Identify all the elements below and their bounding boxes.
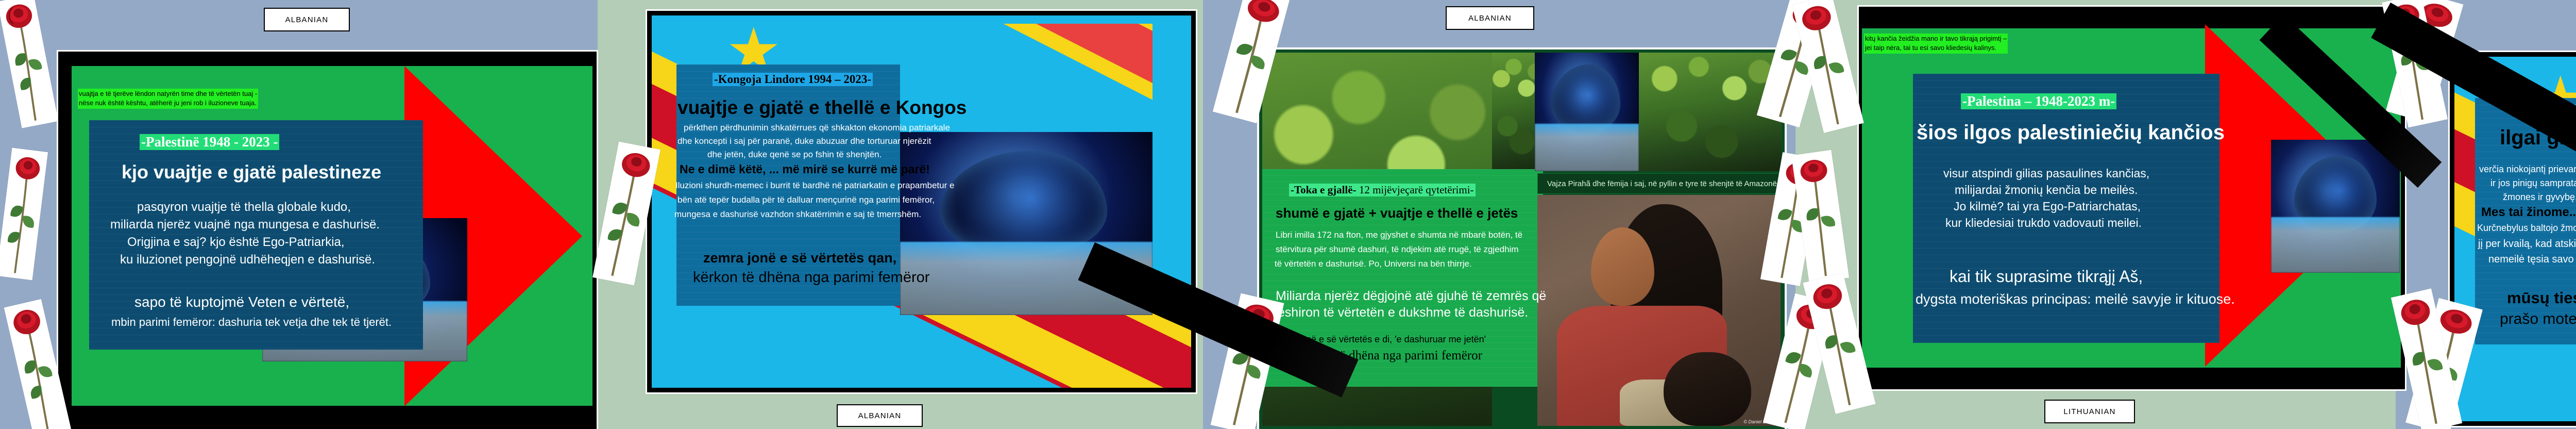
palestine-footer-bold: sapo të kuptojmë Veten e vërtetë, bbox=[134, 294, 349, 310]
palestine-body-line: Jo kilmė? tai yra Ego-Patriarchatas, bbox=[1954, 200, 2141, 213]
congo-body-line: përkthen përdhunimin shkatërrues që shka… bbox=[684, 123, 950, 133]
congo-body2-line: Kurčnebylus baltojo žmogaus kliedesys at… bbox=[2477, 223, 2576, 234]
congo-body2-line: jį per kvailą, kad atskirtų išmintį nuo … bbox=[2478, 238, 2576, 250]
caption-text: Vajza Pirahã dhe fëmija i saj, në pyllin… bbox=[1547, 179, 1781, 188]
palestine-title: -Palestinë 1948 - 2023 - bbox=[140, 134, 279, 150]
earth-body-line: stërvitura për shumë dashuri, të ndjekim… bbox=[1276, 244, 1519, 255]
palestine-heading: kjo vuajtje e gjatë palestineze bbox=[122, 161, 381, 183]
language-tag-lithuanian-1: LITHUANIAN bbox=[2044, 400, 2135, 423]
palestine-footer-line: dygsta moteriškas principas: meilė savyj… bbox=[1916, 291, 2235, 307]
palestine-quote: vuajtja e të tjerëve lëndon natyrën time… bbox=[78, 89, 258, 109]
congo-body-line: ir jos pinigų samprata, prievartaudama i… bbox=[2490, 178, 2576, 189]
palestine-quote-line2: jei taip nėra, tai tu esi savo kliedesių… bbox=[1865, 43, 2007, 53]
palestine-body-line: milijardai žmonių kenčia be meilės. bbox=[1955, 183, 2138, 197]
congo-body2-line: bën atë tepër budalla për të dalluar men… bbox=[677, 195, 935, 205]
palestine-footer-line: mbin parimi femëror: dashuria tek vetja … bbox=[111, 316, 392, 329]
palestine-heading: šios ilgos palestiniečių kančios bbox=[1917, 121, 2225, 144]
palestine-body-line: miliarda njerëz vuajnë nga mungesa e das… bbox=[110, 218, 380, 232]
palestine-slide-albanian: vuajtja e të tjerëve lëndon natyrën time… bbox=[57, 50, 598, 429]
palestine-title: -Palestina – 1948-2023 m- bbox=[1961, 93, 2116, 109]
congo-emphasis: Mes tai žinome... geriau nei bet kada an… bbox=[2481, 205, 2576, 220]
earth-space-image bbox=[1535, 53, 1639, 171]
palestine-quote-line2: nëse nuk është kështu, atëherë ju jeni r… bbox=[79, 98, 257, 108]
palestine-footer-bold: kai tik suprasime tikrąjį Aš, bbox=[1950, 267, 2143, 286]
congo-footer-bold: mūsų tiesos širdis verkia, bbox=[2507, 289, 2576, 307]
congo-body-line: dhe koncepti i saj për paranë, duke abuz… bbox=[677, 136, 931, 146]
palestine-quote: kitų kančia žeidžia mano ir tavo tikrąją… bbox=[1864, 34, 2008, 54]
congo-body-line: verčia niokojantį prievartavimą, kurį su… bbox=[2479, 164, 2576, 175]
congo-heading: vuajtje e gjatë e thellë e Kongos bbox=[677, 97, 967, 119]
language-tag-albanian-2: ALBANIAN bbox=[837, 404, 923, 427]
earth-space-image bbox=[2271, 140, 2400, 273]
palestine-body-line: pasqyron vuajtje të thella globale kudo, bbox=[137, 200, 351, 214]
earth-body-line: Libri imilla 172 na fton, me gjyshet e s… bbox=[1276, 230, 1522, 240]
palestine-body-line: kur kliedesiai trukdo vadovauti meilei. bbox=[1945, 216, 2142, 230]
congo-body2-line: Iluzioni shurdh-memec i burrit të bardhë… bbox=[675, 180, 954, 191]
earth-body-line: të vërtetën e dashurisë. Po, Universi na… bbox=[1275, 259, 1472, 269]
slide-strip: ALBANIAN bbox=[0, 0, 2576, 429]
earth-title-rest: 12 mijëvjeçarë qytetërimi- bbox=[1357, 184, 1474, 196]
congo-footer-bold: zemra jonë e së vërtetës qan, bbox=[703, 250, 896, 266]
congo-body-line: žmones ir gyvybę, nes išpučia šventumą. bbox=[2503, 192, 2576, 203]
language-tag-albanian-1: ALBANIAN bbox=[264, 8, 350, 31]
photo-caption: Vajza Pirahã dhe fëmija i saj, në pyllin… bbox=[1537, 173, 1785, 194]
congo-body-line: dhe jetën, duke qenë se po fshin të shen… bbox=[707, 150, 882, 160]
earth-body-big-line: Miliarda njerëz dëgjojnë atë gjuhë të ze… bbox=[1276, 289, 1546, 304]
congo-emphasis: Ne e dimë këtë, ... më mirë se kurrë më … bbox=[680, 162, 930, 176]
congo-body2-line: nemeilė tęsia savo siaubingą naikinimą. bbox=[2488, 254, 2576, 266]
palestine-body-line: Origjina e saj? kjo është Ego-Patriarkia… bbox=[127, 235, 345, 250]
congo-title: -Kongoja Lindore 1994 – 2023- bbox=[713, 73, 873, 86]
palestine-body-line: visur atspindi gilias pasaulines kančias… bbox=[1943, 167, 2149, 180]
earth-heading: shumë e gjatë + vuajtje e thellë e jetës bbox=[1276, 205, 1518, 221]
language-tag-albanian-3: ALBANIAN bbox=[1446, 6, 1534, 30]
pirahã-mother-photo: © Daniel Everett bbox=[1537, 195, 1781, 426]
congo-footer-line: prašo moteriškojo principo bbox=[2500, 310, 2576, 328]
congo-slide-albanian: ★ -Kongoja Lindore 1994 – 2023- vuajtje … bbox=[646, 9, 1197, 394]
palestine-body-line: ku iluzionet pengojnë udhëheqjen e dashu… bbox=[120, 253, 375, 267]
palestine-quote-line1: vuajtja e të tjerëve lëndon natyrën time… bbox=[79, 89, 257, 98]
earth-title-bold: -Toka e gjallë- bbox=[1291, 184, 1357, 196]
earth-body-big-line: dëshiron të vërtetën e dukshme të dashur… bbox=[1270, 305, 1528, 320]
earth-title: -Toka e gjallë- 12 mijëvjeçarë qytetërim… bbox=[1289, 184, 1476, 196]
palestine-quote-line1: kitų kančia žeidžia mano ir tavo tikrąją… bbox=[1865, 34, 2007, 43]
congo-footer-line: kërkon të dhëna nga parimi femëror bbox=[693, 269, 929, 286]
congo-body2-line: mungesa e dashurisë vazhdon shkatërrimin… bbox=[674, 209, 921, 220]
